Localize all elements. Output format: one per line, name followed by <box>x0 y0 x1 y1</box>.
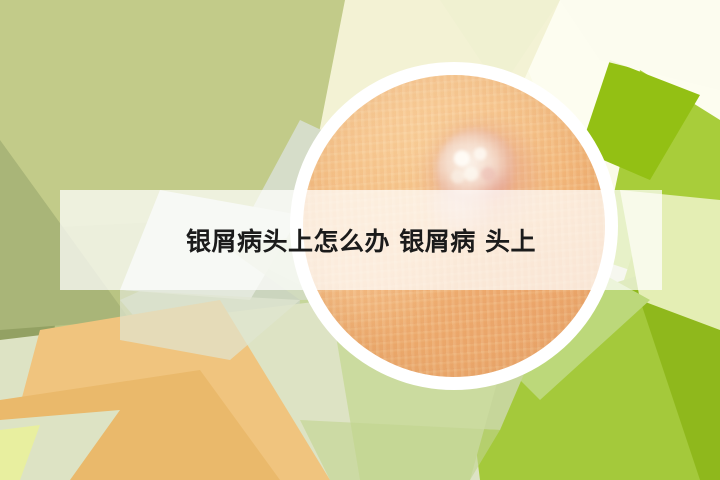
poster-canvas: 银屑病头上怎么办 银屑病 头上 <box>0 0 720 480</box>
poly-facet-bottom <box>300 420 500 480</box>
page-title: 银屑病头上怎么办 银屑病 头上 <box>60 190 662 290</box>
